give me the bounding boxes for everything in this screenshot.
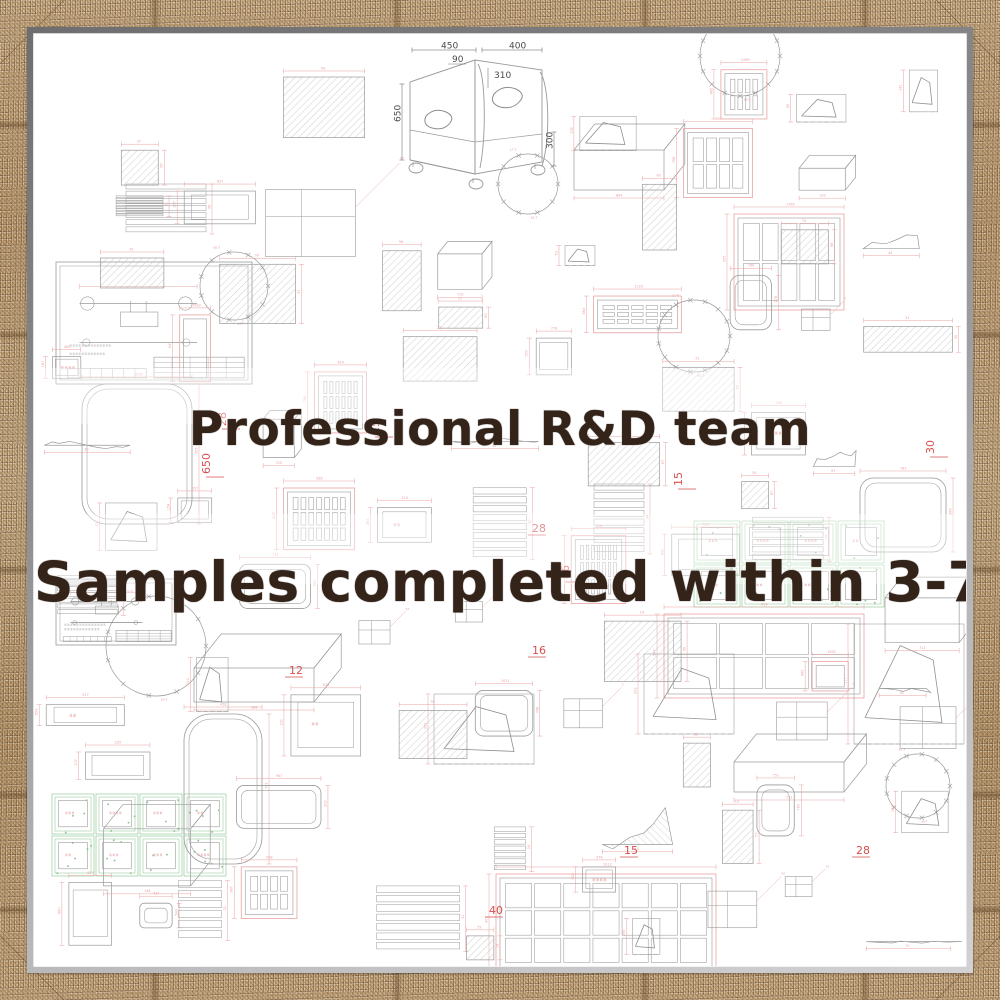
svg-text:43.9: 43.9	[898, 747, 905, 752]
svg-text:1765: 1765	[786, 202, 795, 206]
svg-text:1693: 1693	[192, 303, 201, 307]
svg-text:235: 235	[115, 740, 121, 744]
svg-text:637: 637	[217, 179, 223, 183]
svg-text:99: 99	[683, 647, 687, 651]
svg-text:278: 278	[774, 296, 778, 302]
svg-text:44: 44	[888, 251, 892, 255]
svg-text:458: 458	[220, 702, 226, 706]
svg-text:864: 864	[616, 193, 622, 197]
svg-text:376: 376	[596, 855, 602, 859]
svg-text:85: 85	[160, 163, 164, 167]
svg-text:67: 67	[770, 491, 774, 495]
svg-text:212: 212	[186, 678, 190, 684]
svg-text:2: 2	[622, 683, 624, 687]
svg-text:650: 650	[394, 105, 404, 122]
svg-text:99: 99	[208, 205, 212, 209]
svg-text:665: 665	[801, 670, 805, 676]
svg-text:614: 614	[337, 360, 343, 364]
svg-text:107: 107	[74, 759, 78, 765]
svg-text:57: 57	[906, 944, 910, 948]
framed-poster: 75.050.260.541.857.663.243.945.738.699.2…	[0, 0, 1000, 1000]
svg-text:485: 485	[709, 88, 713, 94]
svg-text:780: 780	[797, 804, 801, 810]
svg-text:81: 81	[165, 202, 169, 206]
svg-text:555: 555	[723, 256, 727, 262]
svg-text:300: 300	[546, 132, 556, 149]
svg-text:203: 203	[323, 800, 327, 806]
svg-text:1223: 1223	[634, 284, 643, 288]
svg-text:31: 31	[461, 915, 465, 919]
svg-text:17.2: 17.2	[510, 147, 517, 152]
svg-text:7: 7	[844, 296, 846, 300]
svg-text:203: 203	[634, 688, 638, 694]
svg-text:780: 780	[748, 264, 754, 268]
svg-text:31: 31	[905, 316, 909, 320]
svg-text:22: 22	[223, 906, 227, 910]
svg-text:99: 99	[255, 254, 259, 258]
svg-text:37: 37	[137, 140, 141, 144]
svg-text:232: 232	[569, 127, 573, 133]
svg-text:92: 92	[900, 691, 904, 695]
svg-text:527: 527	[82, 693, 88, 697]
svg-text:719: 719	[457, 293, 463, 297]
svg-text:90: 90	[452, 55, 464, 65]
svg-text:14: 14	[495, 944, 499, 948]
svg-text:79: 79	[825, 864, 829, 868]
svg-text:50.2: 50.2	[161, 697, 168, 702]
svg-text:120: 120	[891, 805, 895, 811]
svg-text:684: 684	[582, 308, 586, 314]
svg-text:74: 74	[802, 219, 806, 223]
svg-text:30: 30	[752, 471, 756, 475]
svg-text:154: 154	[166, 504, 170, 510]
svg-text:37: 37	[297, 290, 301, 294]
svg-text:57.6: 57.6	[672, 293, 679, 298]
svg-text:16: 16	[532, 644, 546, 657]
svg-text:82.1: 82.1	[531, 215, 538, 220]
svg-text:947: 947	[276, 774, 282, 778]
svg-text:819: 819	[323, 683, 329, 687]
svg-text:751: 751	[773, 773, 779, 777]
svg-text:193: 193	[819, 194, 825, 198]
svg-text:819: 819	[87, 871, 93, 875]
svg-text:51: 51	[695, 357, 699, 361]
svg-text:56: 56	[694, 733, 698, 737]
svg-text:97: 97	[831, 469, 835, 473]
svg-text:76: 76	[430, 700, 434, 704]
svg-text:40: 40	[489, 904, 503, 917]
headline-primary: Professional R&D team	[34, 402, 966, 457]
svg-text:347: 347	[168, 342, 172, 348]
svg-text:23: 23	[437, 326, 441, 330]
svg-text:28: 28	[856, 844, 870, 857]
svg-text:766: 766	[672, 157, 676, 163]
svg-text:35: 35	[954, 335, 958, 339]
svg-text:12: 12	[289, 664, 303, 677]
cad-drawing-sheet: 75.050.260.541.857.663.243.945.738.699.2…	[34, 34, 966, 966]
svg-text:59: 59	[477, 925, 481, 929]
svg-text:589: 589	[316, 476, 322, 480]
svg-text:13: 13	[735, 800, 739, 804]
svg-text:1021: 1021	[501, 679, 510, 683]
svg-text:63: 63	[656, 174, 660, 178]
svg-text:776: 776	[551, 326, 557, 330]
svg-text:782: 782	[900, 466, 906, 470]
svg-text:24: 24	[527, 845, 531, 849]
svg-text:201: 201	[279, 719, 283, 725]
cad-collage: 75.050.260.541.857.663.243.945.738.699.2…	[34, 34, 966, 966]
svg-text:1913: 1913	[603, 862, 612, 866]
svg-text:568: 568	[251, 705, 257, 709]
svg-text:1269: 1269	[741, 58, 750, 62]
headline-secondary: Samples completed within 3-7 days	[34, 550, 966, 614]
svg-text:9: 9	[853, 682, 855, 686]
svg-text:57: 57	[755, 833, 759, 837]
svg-text:437: 437	[153, 892, 159, 896]
svg-text:660: 660	[57, 907, 61, 913]
svg-text:45.7: 45.7	[921, 819, 928, 824]
svg-text:387: 387	[230, 886, 234, 892]
svg-text:214: 214	[401, 496, 407, 500]
svg-text:400: 400	[509, 41, 526, 51]
svg-text:711: 711	[919, 646, 925, 650]
svg-text:310: 310	[494, 71, 511, 81]
svg-text:550: 550	[525, 350, 529, 356]
svg-text:146: 146	[144, 889, 150, 893]
svg-text:1632: 1632	[827, 650, 836, 654]
svg-text:958: 958	[266, 855, 272, 859]
svg-text:557: 557	[192, 486, 198, 490]
svg-text:53: 53	[555, 251, 559, 255]
svg-text:42: 42	[781, 872, 785, 876]
svg-text:450: 450	[441, 41, 458, 51]
svg-text:543: 543	[175, 909, 179, 915]
svg-text:187: 187	[41, 361, 45, 367]
svg-text:624: 624	[571, 873, 575, 879]
svg-text:95: 95	[786, 104, 790, 108]
svg-text:15: 15	[458, 296, 462, 300]
svg-text:210: 210	[276, 461, 282, 465]
svg-text:141: 141	[899, 84, 903, 90]
svg-text:659: 659	[35, 709, 39, 715]
svg-text:15: 15	[672, 472, 685, 486]
svg-text:748: 748	[535, 707, 539, 713]
svg-text:60: 60	[484, 313, 488, 317]
svg-text:68: 68	[830, 243, 834, 247]
svg-text:96: 96	[399, 240, 403, 244]
svg-text:277: 277	[173, 201, 177, 207]
svg-text:484: 484	[64, 345, 70, 349]
svg-text:293: 293	[622, 930, 626, 936]
svg-text:407: 407	[485, 917, 489, 923]
svg-text:67: 67	[661, 460, 665, 464]
svg-text:60.5: 60.5	[213, 245, 220, 250]
svg-text:15: 15	[624, 844, 638, 857]
svg-text:90: 90	[321, 66, 325, 70]
svg-text:79: 79	[129, 247, 133, 251]
